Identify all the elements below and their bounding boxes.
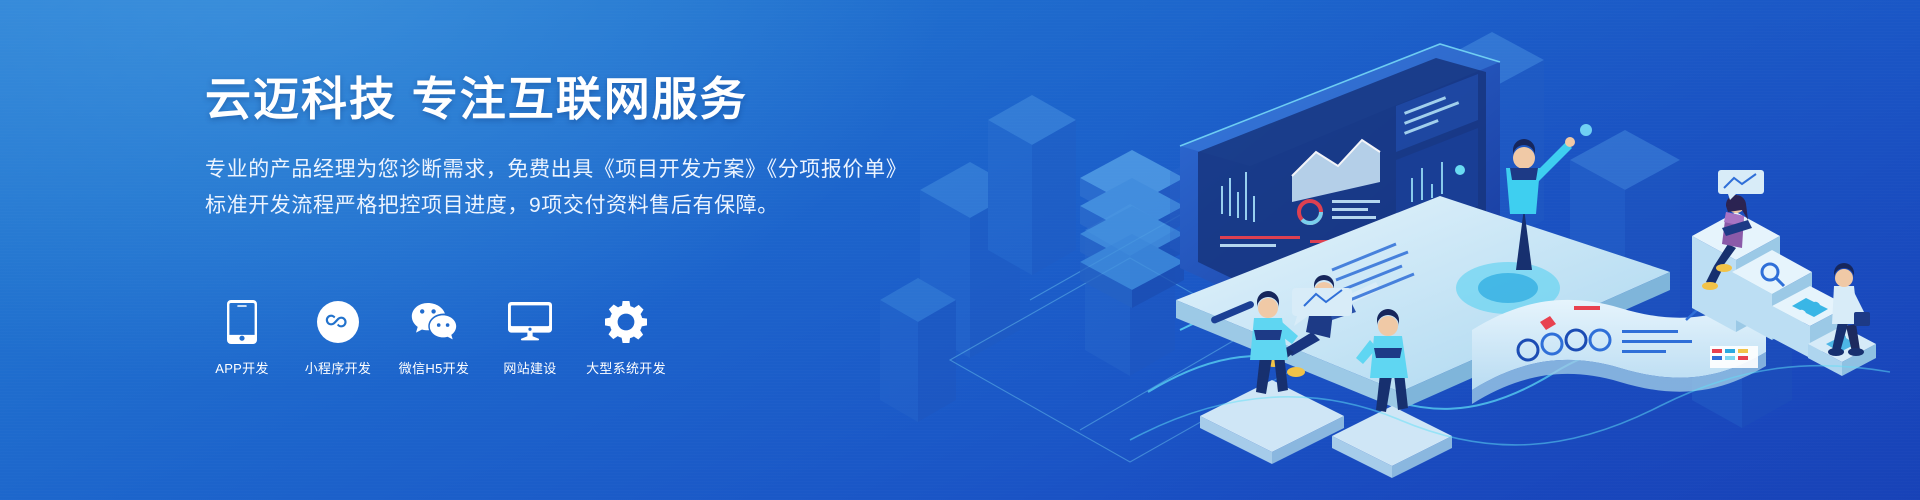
mobile-phone-icon (227, 300, 257, 344)
hero-subtitle-line-2: 标准开发流程严格把控项目进度，9项交付资料售后有保障。 (205, 188, 925, 224)
service-item-app[interactable]: APP开发 (205, 300, 279, 377)
service-label: 大型系统开发 (586, 358, 666, 377)
service-list: APP开发 小程序开发 微信H5开发 (205, 300, 663, 377)
service-label: 微信H5开发 (399, 358, 469, 377)
hero-subtitle: 专业的产品经理为您诊断需求，免费出具《项目开发方案》《分项报价单》 标准开发流程… (205, 152, 925, 224)
hero-banner: 云迈科技 专注互联网服务 专业的产品经理为您诊断需求，免费出具《项目开发方案》《… (0, 0, 1920, 500)
service-item-large-system[interactable]: 大型系统开发 (589, 300, 663, 377)
hero-copy: 云迈科技 专注互联网服务 专业的产品经理为您诊断需求，免费出具《项目开发方案》《… (205, 72, 925, 224)
service-label: 网站建设 (503, 358, 556, 377)
service-label: APP开发 (215, 358, 269, 377)
server-stack (1080, 150, 1184, 308)
service-item-website[interactable]: 网站建设 (493, 300, 567, 377)
gear-icon (605, 300, 647, 344)
service-label: 小程序开发 (305, 358, 372, 377)
mini-program-icon (317, 300, 359, 344)
hero-illustration (880, 0, 1920, 500)
hero-subtitle-line-1: 专业的产品经理为您诊断需求，免费出具《项目开发方案》《分项报价单》 (205, 152, 925, 188)
wechat-icon (410, 300, 458, 344)
page-title: 云迈科技 专注互联网服务 (205, 72, 925, 126)
service-item-miniprogram[interactable]: 小程序开发 (301, 300, 375, 377)
service-item-wechat-h5[interactable]: 微信H5开发 (397, 300, 471, 377)
monitor-icon (508, 300, 552, 344)
